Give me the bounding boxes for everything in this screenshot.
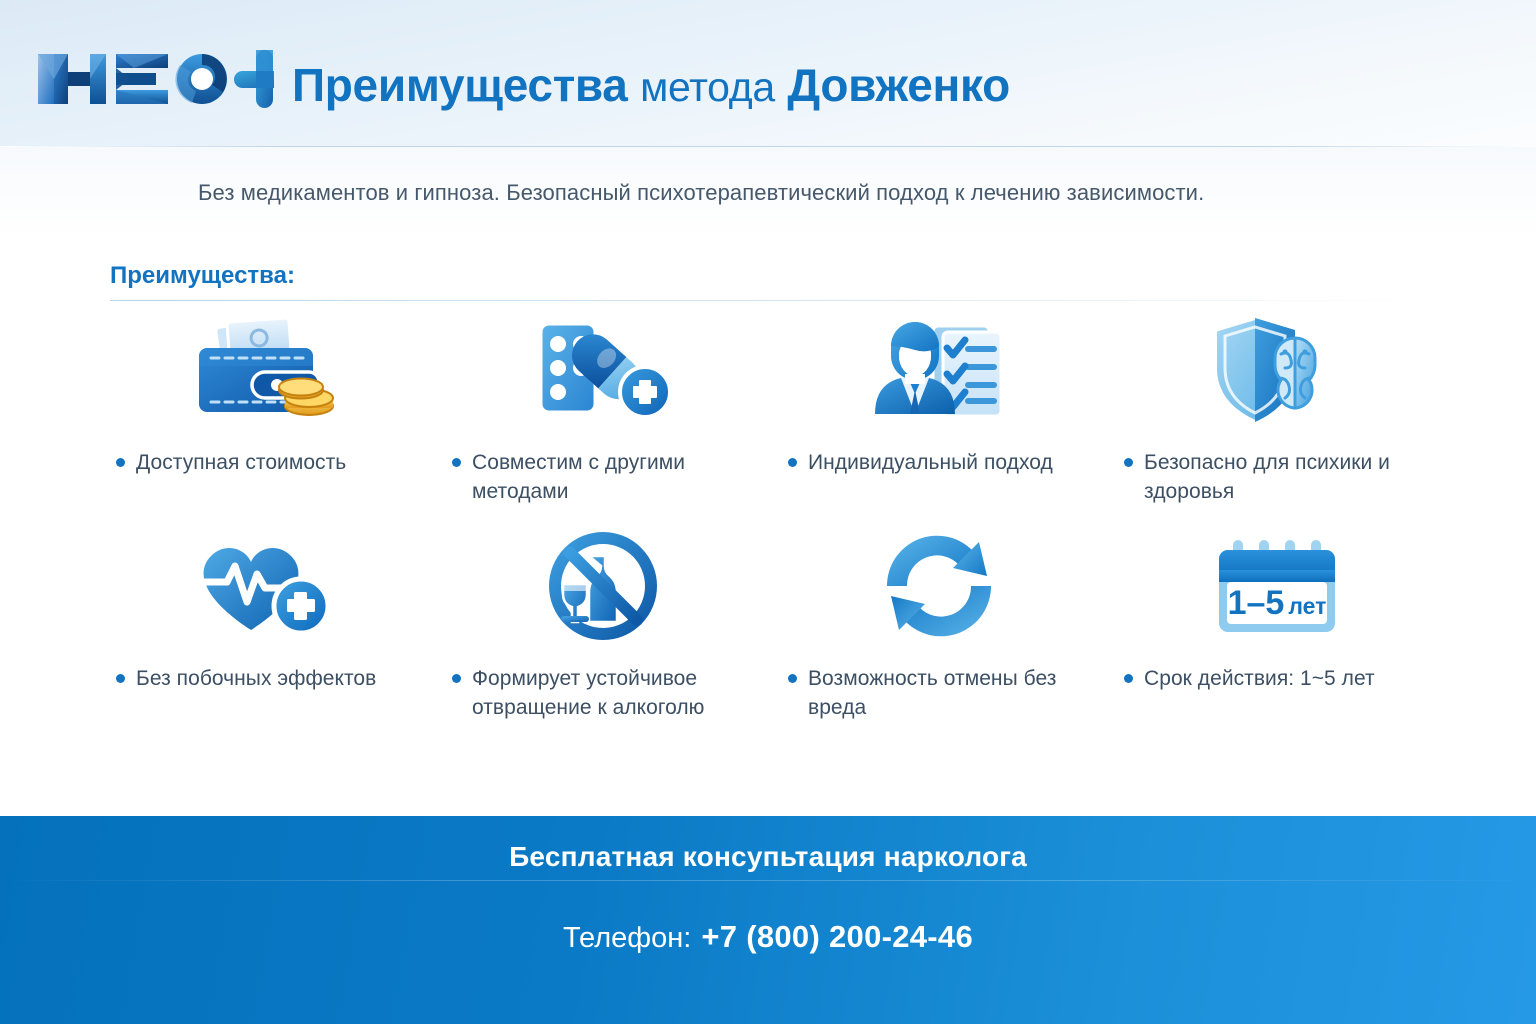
refresh-arrows-icon: [768, 524, 1104, 648]
shield-brain-icon: [1104, 312, 1440, 432]
title-part-2: метода: [640, 64, 775, 110]
benefit-item: Без побочных эффектов: [96, 524, 432, 736]
benefit-item: Безопасно для психики и здоровья: [1104, 312, 1440, 524]
footer-phone: Телефон:+7 (800) 200-24-46: [0, 919, 1536, 955]
benefit-label: Без побочных эффектов: [136, 664, 376, 693]
benefit-label: Доступная стоимость: [136, 448, 346, 477]
title-part-3: Довженко: [787, 59, 1010, 111]
phone-number[interactable]: +7 (800) 200-24-46: [701, 919, 973, 954]
page-title: Преимущества метода Довженко: [292, 56, 1010, 116]
benefit-label: Срок действия: 1~5 лет: [1144, 664, 1375, 693]
benefit-item: Индивидуальный подход: [768, 312, 1104, 524]
pills-plus-icon: [432, 312, 768, 432]
bullet-icon: [116, 674, 125, 683]
benefit-label: Формирует устойчивое отвращение к алкого…: [472, 664, 754, 722]
benefit-item: Доступная стоимость: [96, 312, 432, 524]
bullet-icon: [452, 674, 461, 683]
benefit-label: Безопасно для психики и здоровья: [1144, 448, 1426, 506]
calendar-years-icon: 1–5лет: [1104, 524, 1440, 648]
benefit-label: Индивидуальный подход: [808, 448, 1053, 477]
benefit-label: Совместим с другими методами: [472, 448, 754, 506]
title-part-1: Преимущества: [292, 59, 628, 111]
bullet-icon: [1124, 674, 1133, 683]
section-divider: [110, 300, 1430, 301]
benefits-grid: Доступная стоимость: [96, 312, 1440, 736]
benefit-item: Совместим с другими методами: [432, 312, 768, 524]
footer-title: Бесплатная консупьтация нарколога: [0, 841, 1536, 873]
heart-pulse-plus-icon: [96, 524, 432, 648]
wallet-coins-icon: [96, 312, 432, 432]
benefit-label: Возможность отмены без вреда: [808, 664, 1090, 722]
footer-divider: [0, 880, 1536, 881]
benefit-item: Формирует устойчивое отвращение к алкого…: [432, 524, 768, 736]
bullet-icon: [1124, 458, 1133, 467]
no-alcohol-icon: [432, 524, 768, 648]
footer-cta: Бесплатная консупьтация нарколога Телефо…: [0, 816, 1536, 1024]
benefit-item: 1–5лет Срок действия: 1~5 лет: [1104, 524, 1440, 736]
phone-label: Телефон:: [563, 922, 691, 954]
bullet-icon: [788, 458, 797, 467]
infographic-page: Преимущества метода Довженко Без медикам…: [0, 0, 1536, 1024]
section-heading: Преимущества:: [110, 262, 295, 290]
neo-plus-logo: [34, 48, 274, 110]
bullet-icon: [116, 458, 125, 467]
bullet-icon: [788, 674, 797, 683]
header: Преимущества метода Довженко: [0, 0, 1536, 146]
subtitle: Без медикаментов и гипноза. Безопасный п…: [198, 180, 1204, 206]
doctor-checklist-icon: [768, 312, 1104, 432]
bullet-icon: [452, 458, 461, 467]
benefit-item: Возможность отмены без вреда: [768, 524, 1104, 736]
